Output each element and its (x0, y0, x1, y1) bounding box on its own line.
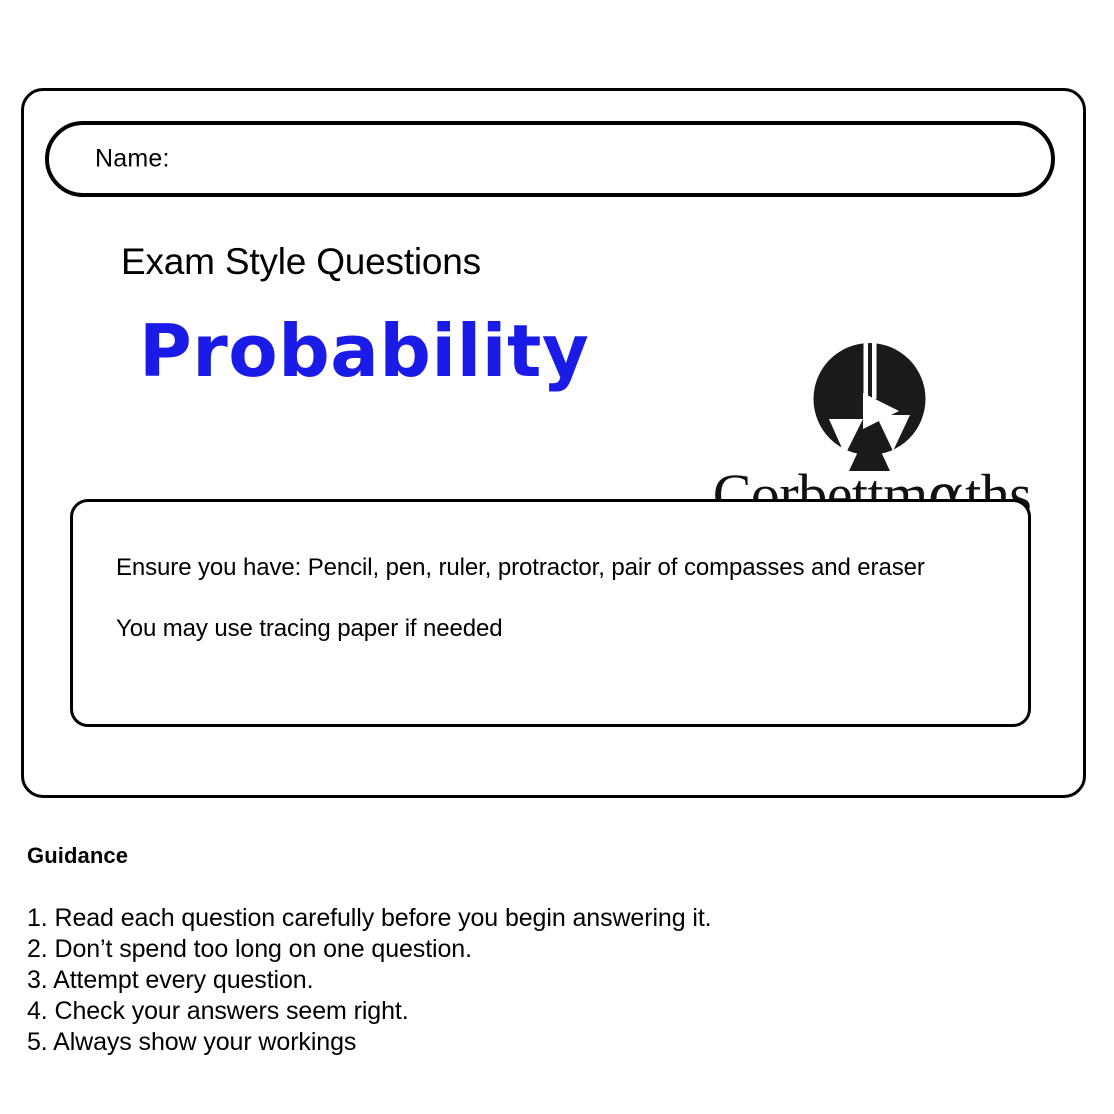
equipment-line-1: Ensure you have: Pencil, pen, ruler, pro… (116, 554, 925, 582)
list-item: 5. Always show your workings (27, 1027, 1027, 1058)
exam-style-questions-heading: Exam Style Questions (121, 241, 481, 283)
list-item: 1. Read each question carefully before y… (27, 903, 1027, 934)
name-field[interactable]: Name: (45, 121, 1055, 197)
guidance-section: Guidance 1. Read each question carefully… (27, 843, 1027, 1058)
exam-cover-frame: Name: Exam Style Questions Probability (21, 88, 1086, 798)
name-field-label: Name: (95, 145, 170, 174)
equipment-notice-box: Ensure you have: Pencil, pen, ruler, pro… (70, 499, 1031, 727)
guidance-list: 1. Read each question carefully before y… (27, 903, 1027, 1058)
equipment-line-2: You may use tracing paper if needed (116, 615, 503, 643)
guidance-heading: Guidance (27, 843, 1027, 869)
cover-heading-block: Exam Style Questions Probability (24, 221, 1083, 451)
list-item: 3. Attempt every question. (27, 965, 1027, 996)
page-title: Probability (139, 309, 589, 393)
list-item: 4. Check your answers seem right. (27, 996, 1027, 1027)
corbettmaths-logo-mark-icon (807, 341, 932, 471)
list-item: 2. Don’t spend too long on one question. (27, 934, 1027, 965)
